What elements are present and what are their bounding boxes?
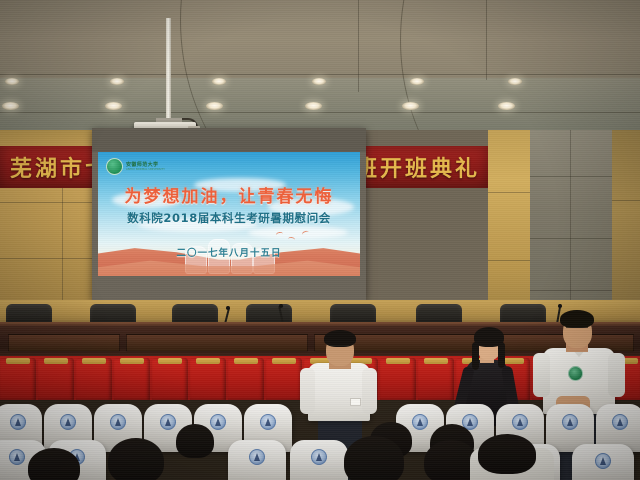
covered-chair [228, 440, 286, 480]
audience-head [108, 438, 164, 480]
logo-subtext: ANHUI NORMAL UNIVERSITY [126, 168, 165, 171]
red-seat [418, 358, 454, 400]
arm-right [608, 353, 625, 397]
microphone-head [226, 306, 230, 310]
arm-left [300, 368, 315, 414]
bird-icon [288, 237, 296, 243]
dress-shirt [308, 363, 370, 421]
downlight [5, 78, 19, 85]
ceiling-seam [358, 0, 359, 92]
desk-panel [8, 334, 120, 352]
downlight [212, 78, 226, 85]
downlight [110, 78, 124, 85]
ceiling [0, 0, 640, 132]
red-seat [0, 358, 36, 400]
glasses-icon [566, 327, 588, 332]
projection-screen-top-band [92, 128, 366, 152]
logo-name: 安徽师范大学 [126, 162, 158, 168]
covered-chair [572, 444, 634, 480]
red-banner-right: 班开班典礼 [352, 146, 488, 188]
arm-left [533, 353, 550, 397]
name-badge [350, 398, 361, 406]
red-seat [266, 358, 302, 400]
audience-head [176, 424, 214, 458]
audience-head [28, 448, 80, 480]
downlight [206, 102, 223, 110]
downlight [410, 78, 424, 85]
banner-right-text: 班开班典礼 [355, 151, 480, 183]
slide-institution-logo: 安徽师范大学 ANHUI NORMAL UNIVERSITY [106, 158, 165, 175]
downlight [402, 102, 419, 110]
slide-subtitle: 数科院2018届本科生考研暑期慰问会 [98, 210, 360, 226]
rostrum-desk-edge [0, 322, 640, 326]
projector-pole [166, 18, 171, 122]
downlight [498, 102, 515, 110]
polo-crest-logo [568, 366, 583, 381]
downlight [508, 78, 522, 85]
hair [560, 310, 594, 328]
arm-right [362, 368, 377, 414]
hair-side-left [472, 342, 479, 370]
red-seat [228, 358, 264, 400]
slide-date: 二〇一七年八月十五日 [98, 245, 360, 259]
downlight [105, 102, 122, 110]
covered-chair [290, 440, 348, 480]
microphone-head [279, 304, 283, 308]
slide-title: 为梦想加油，让青春无悔 [98, 182, 360, 207]
hair-side-right [498, 342, 505, 368]
red-seat [152, 358, 188, 400]
ceiling-seam [486, 0, 487, 80]
downlight [305, 102, 322, 110]
auditorium-photo: 芜湖市弋 班开班典礼 安徽师范大学 ANHUI NORMAL UNIVERSIT… [0, 0, 640, 480]
glasses-icon [329, 345, 349, 350]
red-seat [114, 358, 150, 400]
university-seal-icon [106, 158, 123, 175]
presentation-slide: 安徽师范大学 ANHUI NORMAL UNIVERSITY 为梦想加油，让青春… [98, 152, 360, 276]
red-seat [76, 358, 112, 400]
audience-head [344, 436, 404, 480]
red-seat [38, 358, 74, 400]
downlight [2, 102, 19, 110]
desk-panel [126, 334, 308, 352]
red-seat [380, 358, 416, 400]
logo-text: 安徽师范大学 ANHUI NORMAL UNIVERSITY [126, 162, 165, 172]
audience-head [478, 434, 536, 474]
microphone-head [558, 304, 562, 308]
downlight [312, 78, 326, 85]
red-seat [190, 358, 226, 400]
